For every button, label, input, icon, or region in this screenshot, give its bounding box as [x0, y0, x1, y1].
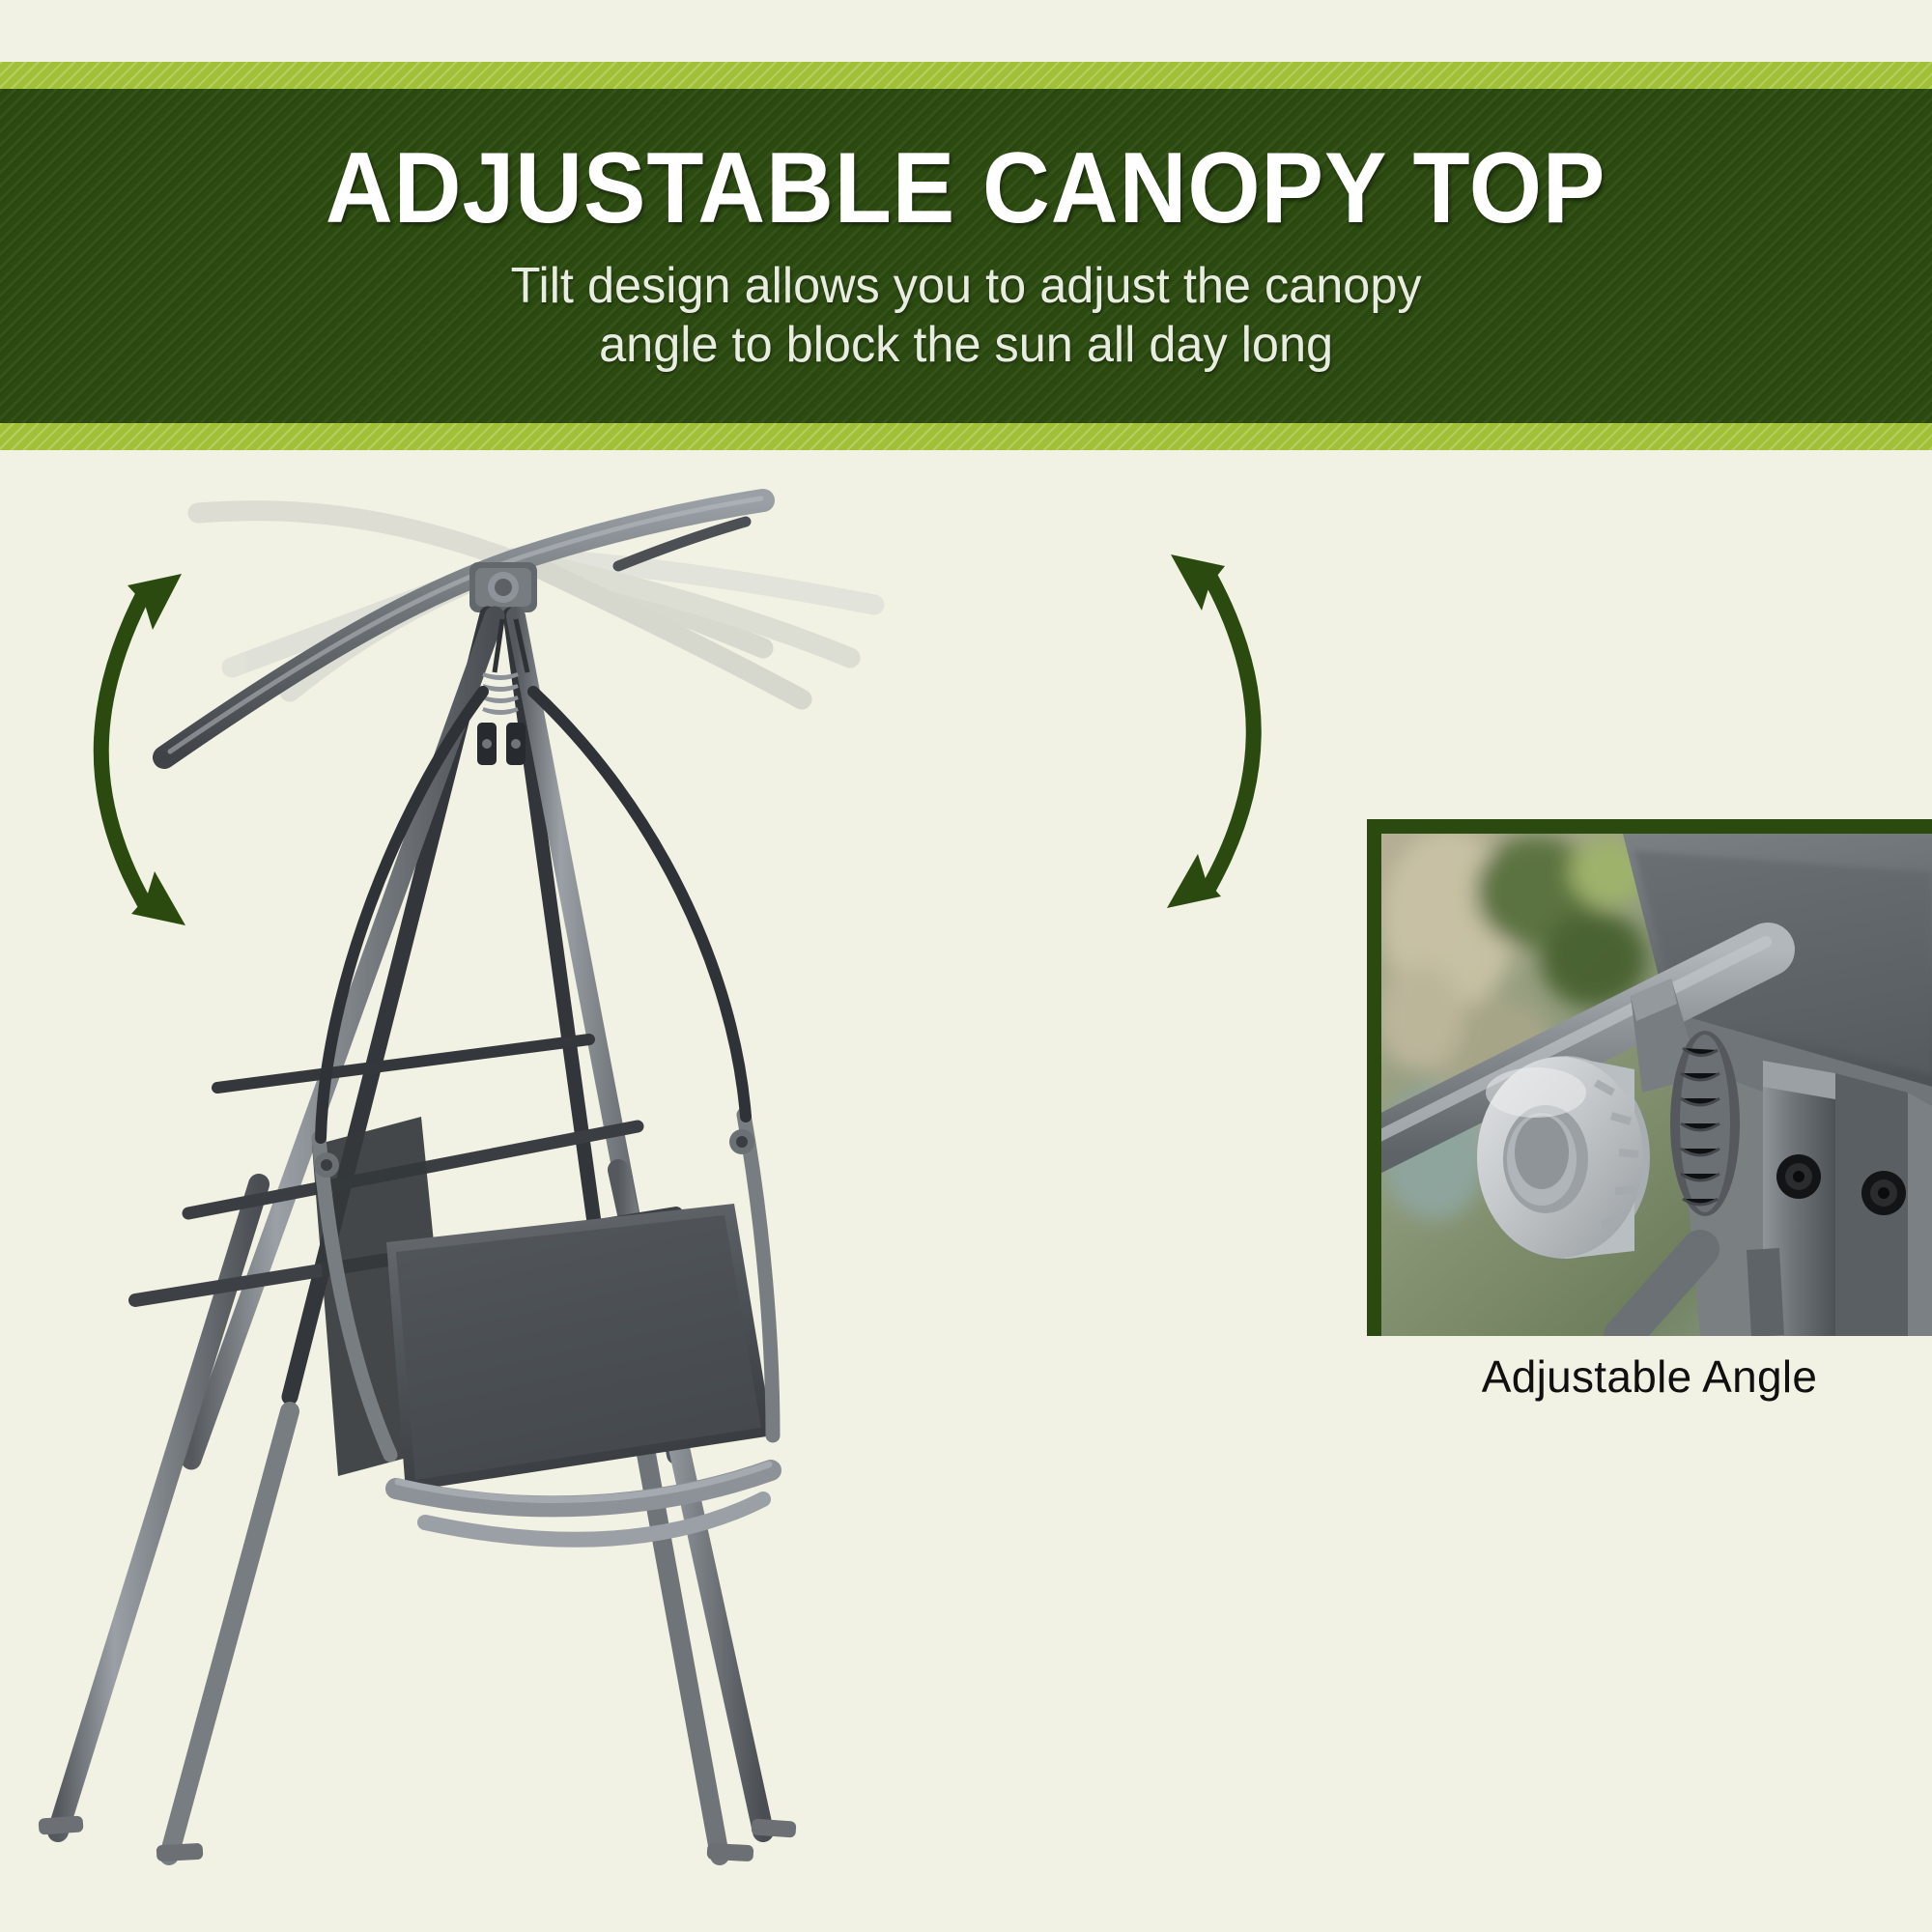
banner-accent-bar-top	[0, 62, 1932, 89]
adjustment-knob	[1477, 1056, 1650, 1259]
banner-subtitle-line-1: Tilt design allows you to adjust the can…	[510, 257, 1421, 316]
detail-photo-caption: Adjustable Angle	[1367, 1350, 1932, 1403]
infographic-canvas: ADJUSTABLE CANOPY TOP Tilt design allows…	[0, 0, 1932, 1932]
detail-photo-frame	[1367, 819, 1932, 1336]
tilt-range-arrow-right	[1167, 554, 1254, 908]
banner-accent-bar-bottom	[0, 423, 1932, 450]
product-illustration	[0, 450, 1352, 1932]
banner-subtitle: Tilt design allows you to adjust the can…	[510, 257, 1421, 376]
canopy-pivot-hub	[469, 562, 537, 612]
banner-subtitle-line-2: angle to block the sun all day long	[510, 316, 1421, 375]
swing-chair-diagram	[0, 450, 1352, 1932]
banner-body: ADJUSTABLE CANOPY TOP Tilt design allows…	[0, 89, 1932, 423]
frame-foot-caps	[38, 1815, 796, 1861]
header-banner: ADJUSTABLE CANOPY TOP Tilt design allows…	[0, 62, 1932, 450]
support-post	[1763, 1061, 1932, 1336]
clamp-collar	[1670, 1031, 1740, 1216]
page-title: ADJUSTABLE CANOPY TOP	[326, 137, 1605, 240]
adjustment-knob-photo	[1381, 834, 1932, 1336]
